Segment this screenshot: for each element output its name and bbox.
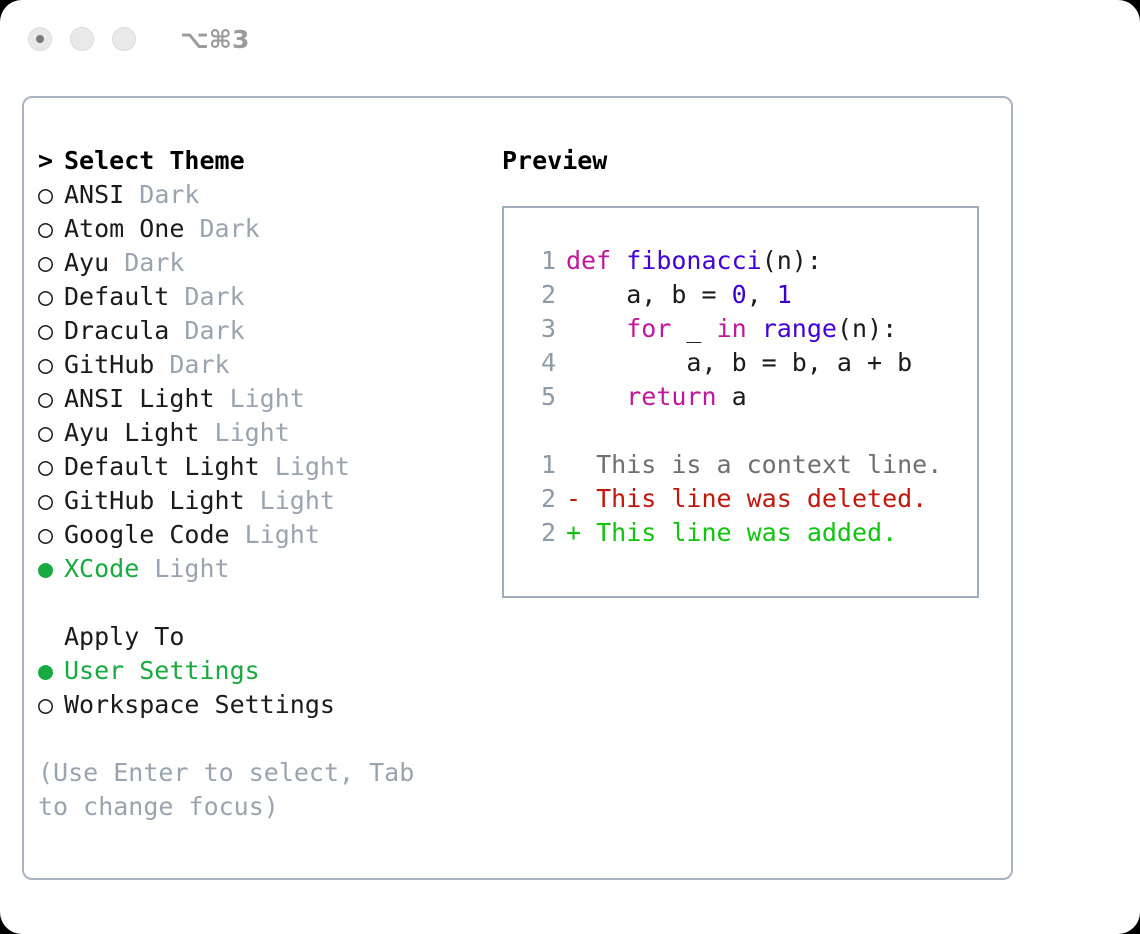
theme-option-github[interactable]: ○GitHub Dark xyxy=(38,348,498,382)
code-token xyxy=(611,246,626,275)
keyboard-hint: (Use Enter to select, Tab to change focu… xyxy=(38,756,458,824)
theme-option-variant: Light xyxy=(230,384,305,413)
code-line: 1def fibonacci(n): xyxy=(504,244,977,278)
line-number: 2 xyxy=(522,516,556,550)
code-line: 3 for _ in range(n): xyxy=(504,312,977,346)
theme-option-variant: Dark xyxy=(184,316,244,345)
theme-option-google-code[interactable]: ○Google Code Light xyxy=(38,518,498,552)
theme-picker: >Select Theme ○ANSI Dark○Atom One Dark○A… xyxy=(38,144,498,824)
preview-title: Preview xyxy=(502,144,1002,178)
apply-to-option-user-settings[interactable]: ●User Settings xyxy=(38,654,498,688)
theme-option-variant: Dark xyxy=(199,214,259,243)
window-dot-active-inner xyxy=(36,35,44,43)
radio-unselected-icon: ○ xyxy=(38,518,64,552)
code-token: a, b = xyxy=(566,280,732,309)
theme-option-variant: Light xyxy=(215,418,290,447)
code-token: in xyxy=(717,314,747,343)
panel-columns: >Select Theme ○ANSI Dark○Atom One Dark○A… xyxy=(24,98,1011,878)
code-token: for xyxy=(626,314,671,343)
radio-unselected-icon: ○ xyxy=(38,382,64,416)
diff-sample: 1 This is a context line.2- This line wa… xyxy=(504,448,977,550)
code-token: return xyxy=(626,382,716,411)
window-dot-3[interactable] xyxy=(112,27,136,51)
window-controls xyxy=(28,27,136,51)
code-token: fibonacci xyxy=(626,246,761,275)
window-dot-active[interactable] xyxy=(28,27,52,51)
theme-option-label: GitHub Light xyxy=(64,486,260,515)
radio-unselected-icon: ○ xyxy=(38,314,64,348)
code-token xyxy=(566,314,626,343)
theme-list: ○ANSI Dark○Atom One Dark○Ayu Dark○Defaul… xyxy=(38,178,498,586)
line-number: 4 xyxy=(522,346,556,380)
theme-option-label: Ayu xyxy=(64,248,124,277)
theme-option-ansi[interactable]: ○ANSI Dark xyxy=(38,178,498,212)
code-diff-spacer xyxy=(504,414,977,448)
theme-option-label: Atom One xyxy=(64,214,199,243)
window-dot-2[interactable] xyxy=(70,27,94,51)
line-number: 1 xyxy=(522,244,556,278)
theme-picker-header: >Select Theme xyxy=(38,144,498,178)
theme-option-variant: Light xyxy=(275,452,350,481)
theme-option-variant: Light xyxy=(245,520,320,549)
theme-option-variant: Dark xyxy=(184,282,244,311)
radio-unselected-icon: ○ xyxy=(38,416,64,450)
theme-option-default-light[interactable]: ○Default Light Light xyxy=(38,450,498,484)
theme-option-label: Default Light xyxy=(64,452,275,481)
code-line: 4 a, b = b, a + b xyxy=(504,346,977,380)
theme-option-github-light[interactable]: ○GitHub Light Light xyxy=(38,484,498,518)
theme-option-default[interactable]: ○Default Dark xyxy=(38,280,498,314)
theme-option-label: Dracula xyxy=(64,316,184,345)
code-line: 2 a, b = 0, 1 xyxy=(504,278,977,312)
apply-to-option-label: Workspace Settings xyxy=(64,690,335,719)
code-token: range xyxy=(762,314,837,343)
code-token: _ xyxy=(671,314,716,343)
code-token: def xyxy=(566,246,611,275)
theme-option-label: Default xyxy=(64,282,184,311)
radio-unselected-icon: ○ xyxy=(38,178,64,212)
radio-unselected-icon: ○ xyxy=(38,484,64,518)
theme-option-atom-one[interactable]: ○Atom One Dark xyxy=(38,212,498,246)
code-token: a xyxy=(717,382,747,411)
radio-selected-icon: ● xyxy=(38,654,64,688)
theme-option-variant: Light xyxy=(260,486,335,515)
apply-to-title-label: Apply To xyxy=(64,622,184,651)
radio-unselected-icon: ○ xyxy=(38,246,64,280)
preview-box: 1def fibonacci(n):2 a, b = 0, 13 for _ i… xyxy=(502,206,979,598)
diff-line: 2- This line was deleted. xyxy=(504,482,977,516)
code-token: - This line was deleted. xyxy=(566,484,927,513)
code-token: , xyxy=(747,280,777,309)
app-window: ⌥⌘3 >Select Theme ○ANSI Dark○Atom One Da… xyxy=(0,0,1140,934)
line-number: 2 xyxy=(522,278,556,312)
code-token: a, b = b, a + b xyxy=(566,348,912,377)
radio-unselected-icon: ○ xyxy=(38,348,64,382)
radio-unselected-icon: ○ xyxy=(38,688,64,722)
code-token: (n): xyxy=(762,246,822,275)
line-number: 5 xyxy=(522,380,556,414)
theme-option-variant: Dark xyxy=(169,350,229,379)
theme-option-label: Google Code xyxy=(64,520,245,549)
code-token xyxy=(566,382,626,411)
theme-option-ayu-light[interactable]: ○Ayu Light Light xyxy=(38,416,498,450)
theme-option-ayu[interactable]: ○Ayu Dark xyxy=(38,246,498,280)
apply-to-title: Apply To xyxy=(38,620,498,654)
theme-option-label: XCode xyxy=(64,554,154,583)
radio-unselected-icon: ○ xyxy=(38,280,64,314)
radio-unselected-icon: ○ xyxy=(38,212,64,246)
apply-to-option-workspace-settings[interactable]: ○Workspace Settings xyxy=(38,688,498,722)
theme-option-ansi-light[interactable]: ○ANSI Light Light xyxy=(38,382,498,416)
code-token xyxy=(747,314,762,343)
code-sample: 1def fibonacci(n):2 a, b = 0, 13 for _ i… xyxy=(504,244,977,414)
prompt-caret-icon: > xyxy=(38,144,64,178)
apply-to-option-label: User Settings xyxy=(64,656,260,685)
line-number: 1 xyxy=(522,448,556,482)
radio-unselected-icon: ○ xyxy=(38,450,64,484)
theme-option-label: ANSI Light xyxy=(64,384,230,413)
theme-option-xcode[interactable]: ●XCode Light xyxy=(38,552,498,586)
code-token: (n): xyxy=(837,314,897,343)
line-number: 2 xyxy=(522,482,556,516)
code-line: 5 return a xyxy=(504,380,977,414)
theme-option-label: Ayu Light xyxy=(64,418,215,447)
radio-selected-icon: ● xyxy=(38,552,64,586)
theme-option-variant: Dark xyxy=(139,180,199,209)
content-panel: >Select Theme ○ANSI Dark○Atom One Dark○A… xyxy=(22,96,1013,880)
code-token: 1 xyxy=(777,280,792,309)
theme-option-label: GitHub xyxy=(64,350,169,379)
theme-option-label: ANSI xyxy=(64,180,139,209)
code-token: 0 xyxy=(732,280,747,309)
theme-option-variant: Light xyxy=(154,554,229,583)
title-bar: ⌥⌘3 xyxy=(0,0,1140,78)
theme-option-dracula[interactable]: ○Dracula Dark xyxy=(38,314,498,348)
diff-line: 2+ This line was added. xyxy=(504,516,977,550)
theme-option-variant: Dark xyxy=(124,248,184,277)
apply-to-list: ●User Settings○Workspace Settings xyxy=(38,654,498,722)
preview-column: Preview 1def fibonacci(n):2 a, b = 0, 13… xyxy=(502,144,1002,598)
code-token: This is a context line. xyxy=(566,450,942,479)
theme-picker-header-label: Select Theme xyxy=(64,146,245,175)
diff-line: 1 This is a context line. xyxy=(504,448,977,482)
shortcut-label: ⌥⌘3 xyxy=(180,25,249,54)
line-number: 3 xyxy=(522,312,556,346)
code-token: + This line was added. xyxy=(566,518,897,547)
